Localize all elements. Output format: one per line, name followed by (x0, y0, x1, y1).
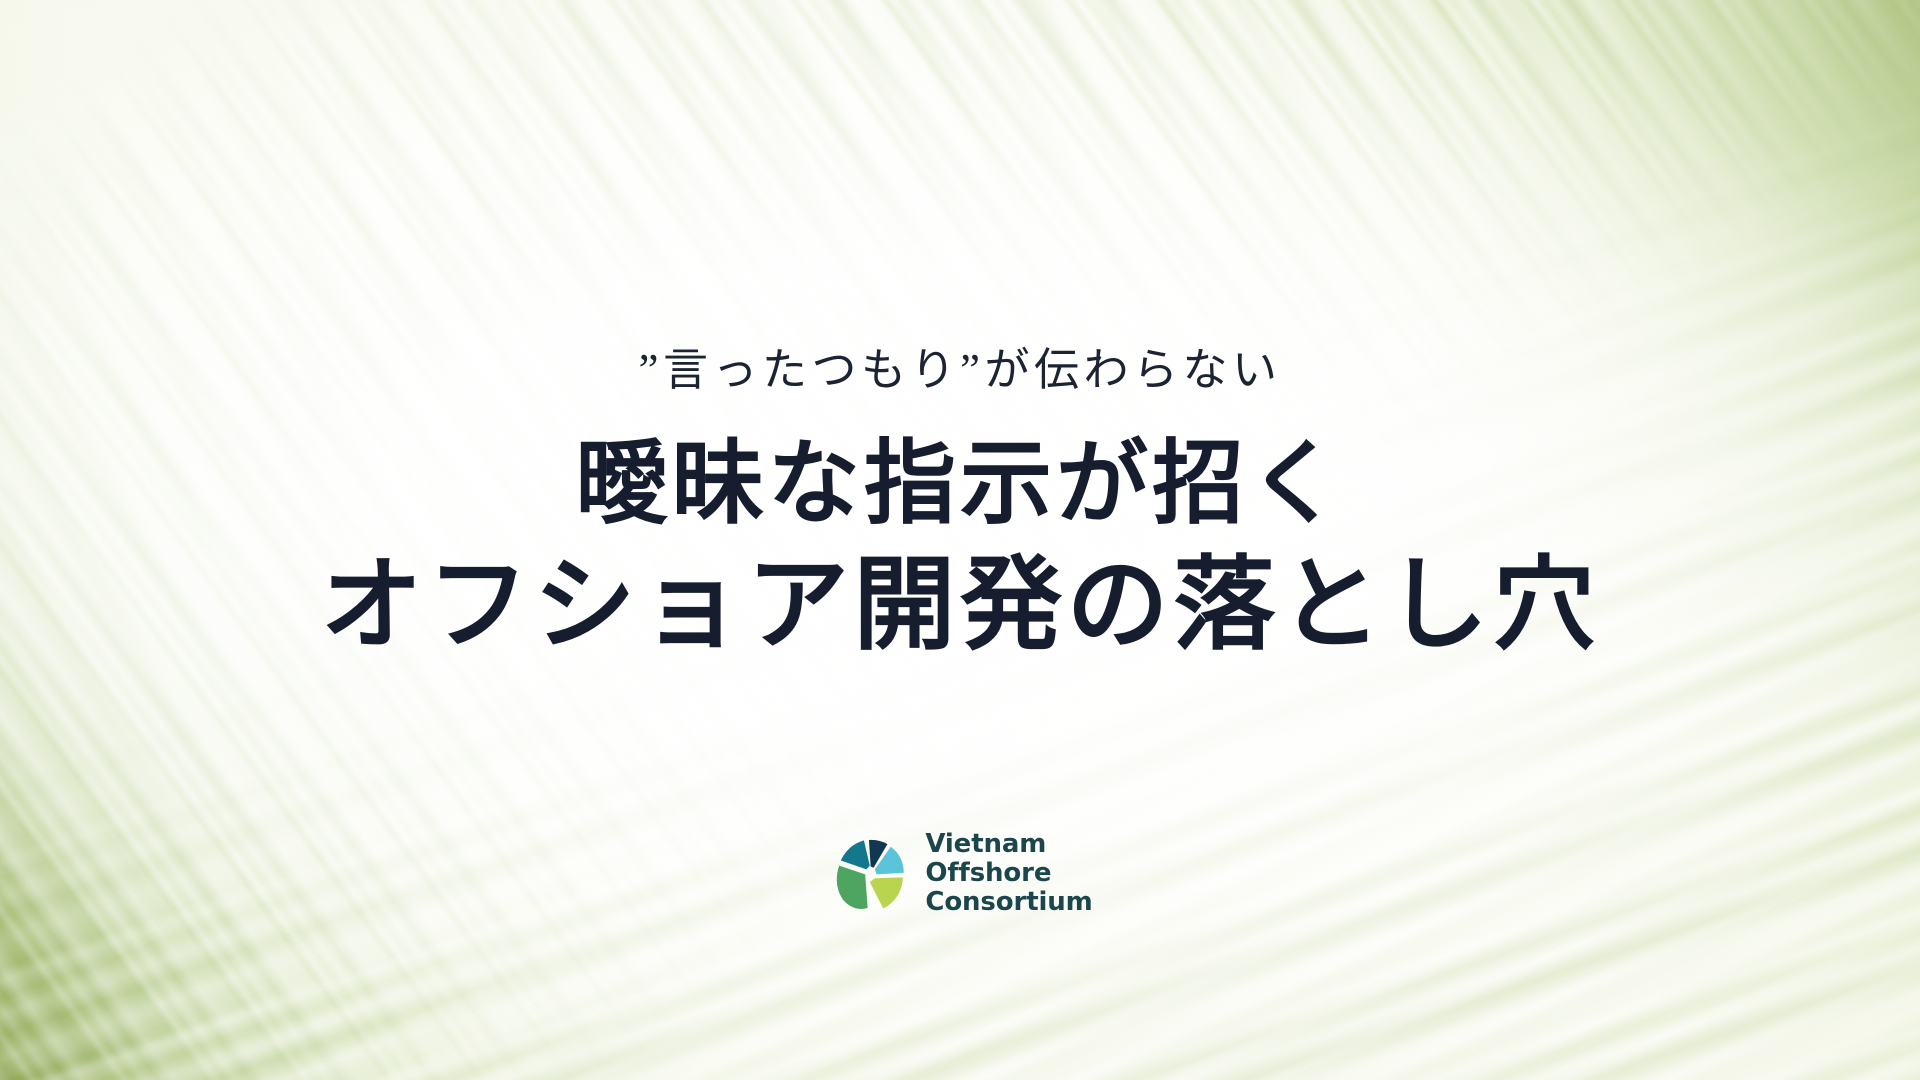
logo-wordmark-line-1: Vietnam (925, 830, 1092, 859)
logo-segment-teal (841, 840, 870, 869)
logo-wordmark: Vietnam Offshore Consortium (925, 830, 1092, 917)
slide-title: 曖昧な指示が招く オフショア開発の落とし穴 (320, 427, 1599, 671)
slide-title-line-1: 曖昧な指示が招く (320, 427, 1599, 543)
pinwheel-logo-icon (827, 832, 911, 916)
logo-segment-green (837, 865, 868, 908)
slide-title-line-2: オフショア開発の落とし穴 (320, 543, 1599, 672)
slide-subtitle: ”言ったつもり”が伝わらない (639, 348, 1282, 393)
logo-wordmark-line-2: Offshore (925, 859, 1092, 888)
slide-content: ”言ったつもり”が伝わらない 曖昧な指示が招く オフショア開発の落とし穴 (0, 0, 1920, 1080)
logo-wordmark-line-3: Consortium (925, 888, 1092, 917)
title-slide: ”言ったつもり”が伝わらない 曖昧な指示が招く オフショア開発の落とし穴 Vie… (0, 0, 1920, 1080)
logo-segment-yellow-green (870, 877, 903, 908)
brand-logo: Vietnam Offshore Consortium (827, 830, 1092, 917)
